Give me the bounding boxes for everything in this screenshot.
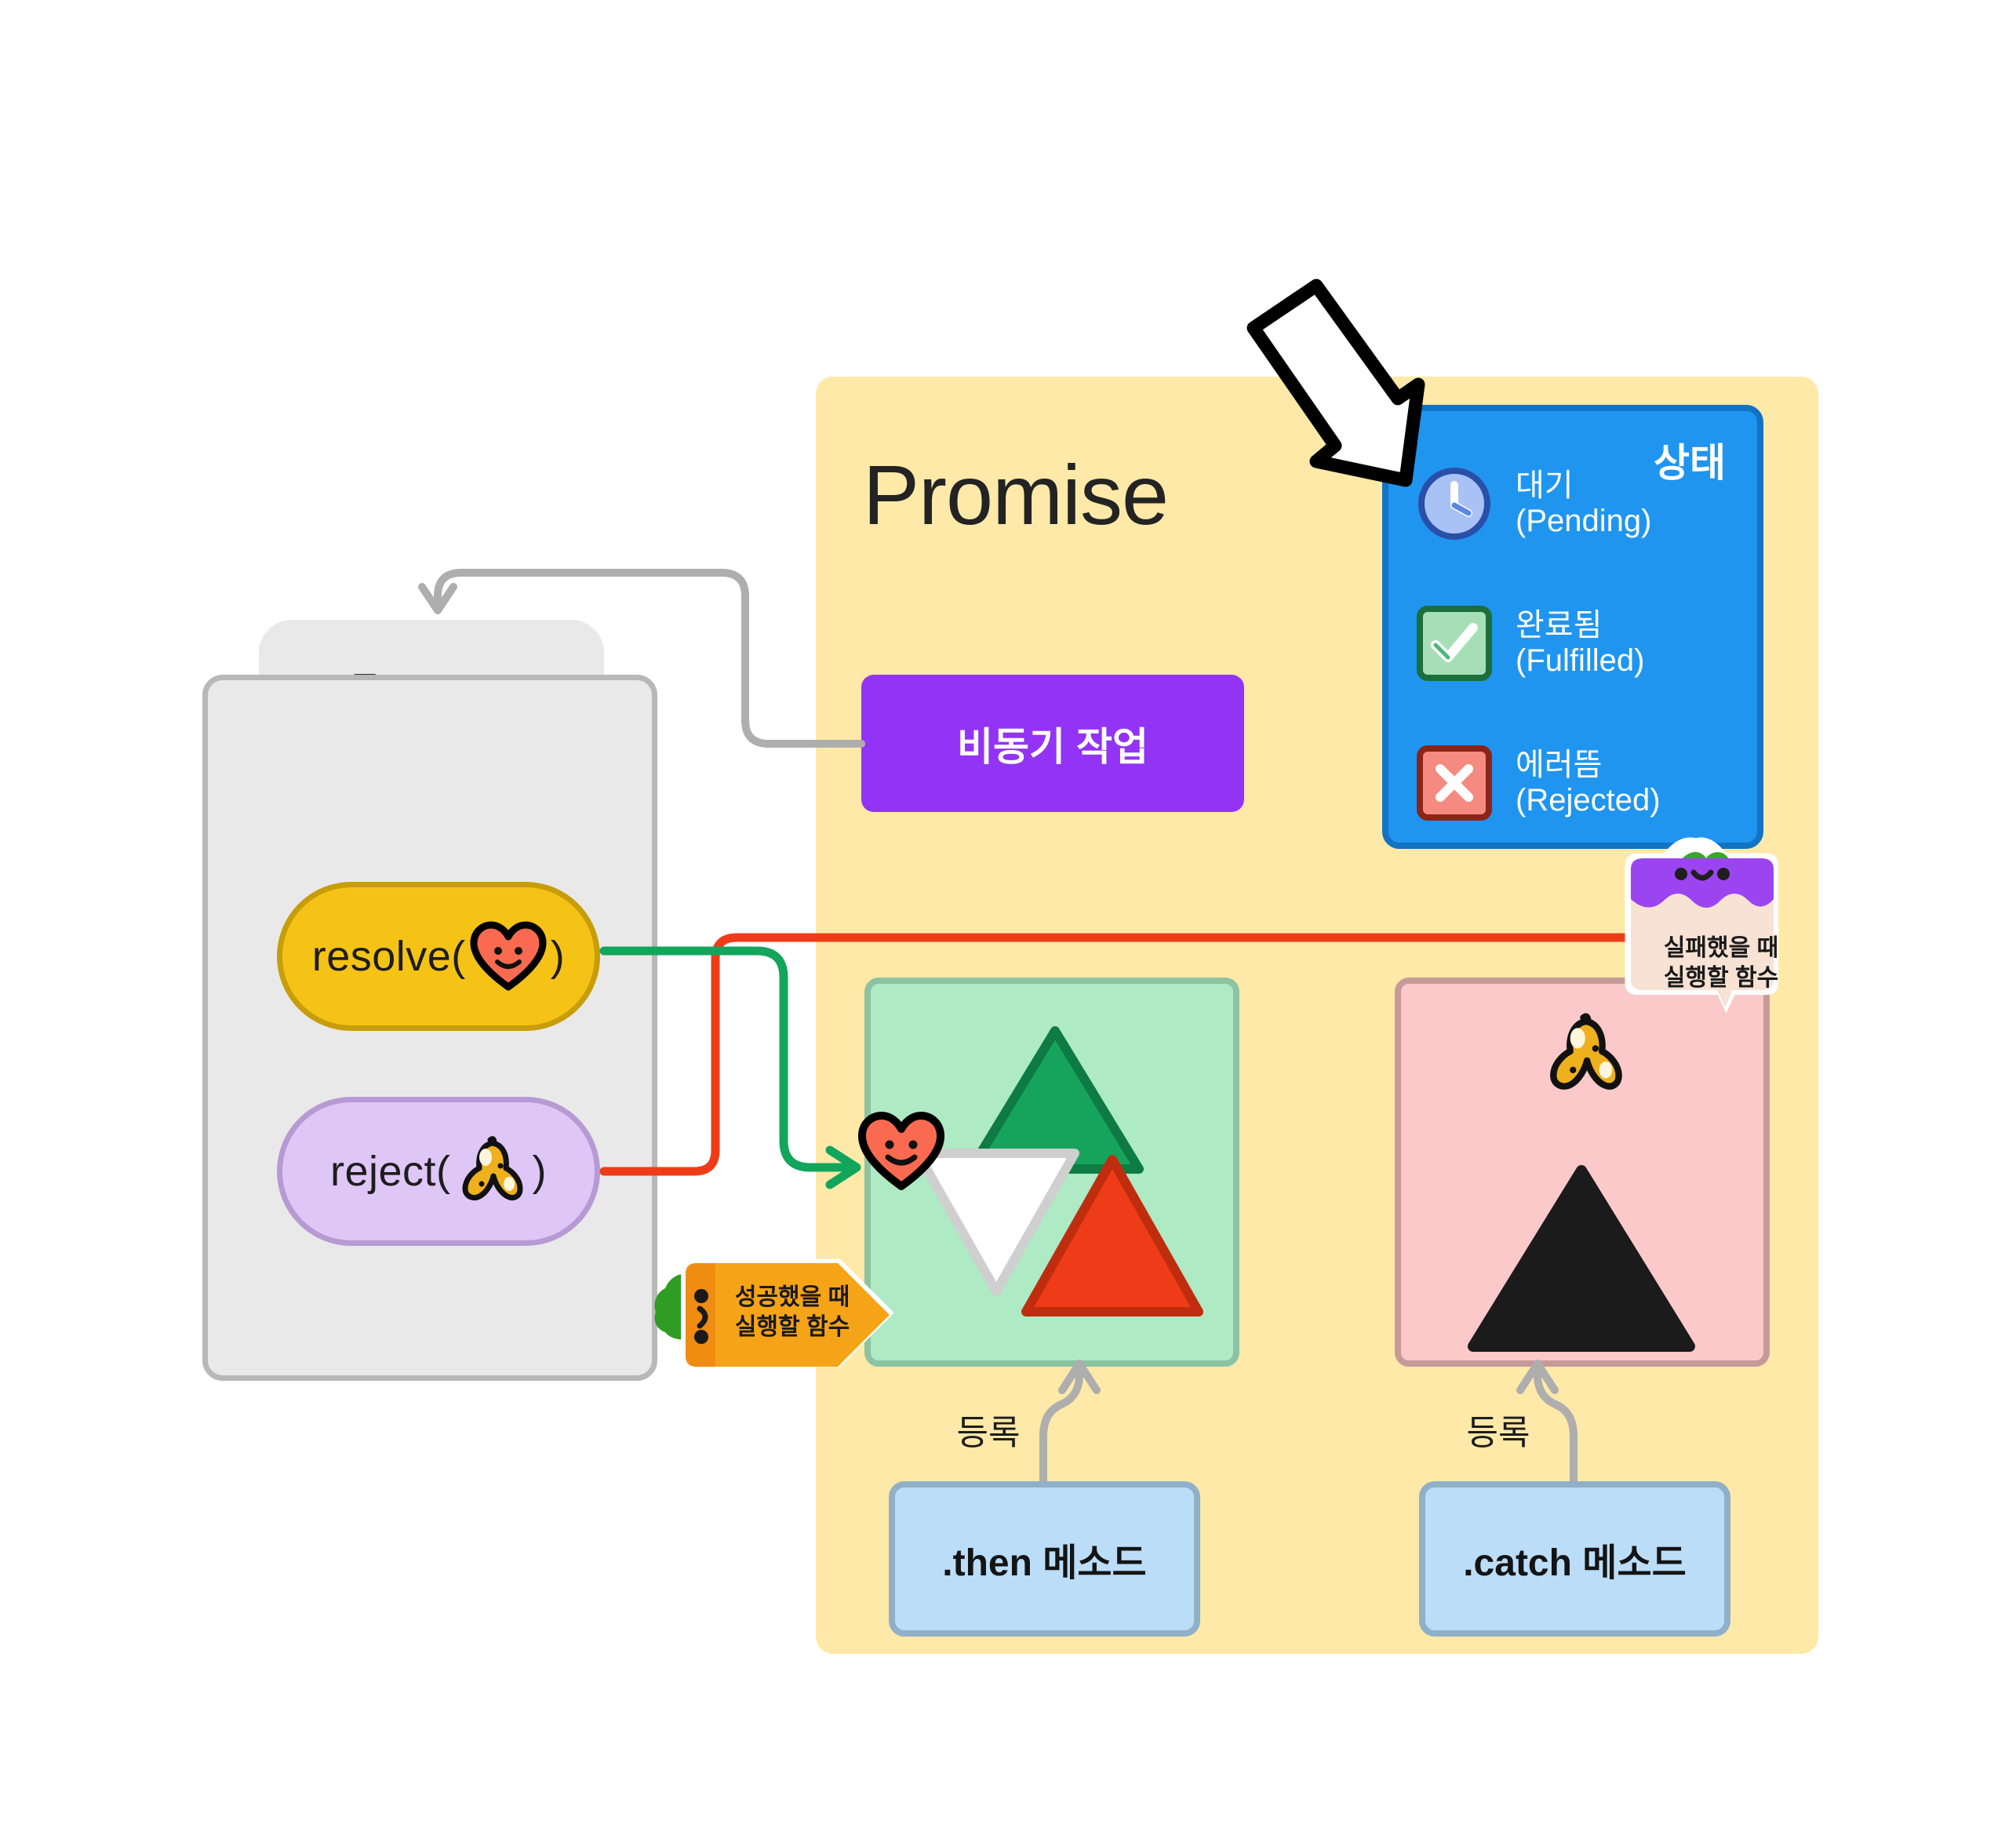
status-label-rejected: 에러뜸 (Rejected): [1516, 748, 1661, 818]
status-card-heading: 상태: [1654, 432, 1726, 488]
heart-face-sticker: [858, 1113, 944, 1191]
cross-icon: [1417, 745, 1492, 821]
status-card: 상태 대기 (Pending): [1382, 405, 1763, 849]
status-row-pending: 대기 (Pending): [1417, 466, 1651, 541]
then-method-box[interactable]: .then 메소드: [889, 1481, 1200, 1637]
catch-result-panel: [1395, 978, 1770, 1367]
check-icon: [1417, 606, 1492, 681]
register-label-catch: 등록: [1447, 1404, 1549, 1455]
register-label-then: 등록: [937, 1404, 1039, 1455]
red-triangle-up-icon: [1018, 1150, 1206, 1323]
then-method-label: .then 메소드: [942, 1531, 1146, 1586]
reject-suffix: ): [533, 1147, 547, 1196]
then-result-panel: [864, 978, 1239, 1367]
diagram-canvas: Promise Executor resolve( ) reject(: [0, 0, 2016, 1839]
banana-peel-sticker: [456, 1135, 528, 1207]
resolve-prefix: resolve(: [312, 932, 466, 981]
status-label-pending: 대기 (Pending): [1516, 468, 1651, 539]
reject-label: reject( ): [330, 1135, 547, 1207]
failure-callout: 실패했을 때 실행할 함수: [1628, 869, 1819, 1014]
catch-method-label: .catch 메소드: [1463, 1531, 1687, 1586]
status-row-rejected: 에러뜸 (Rejected): [1417, 745, 1661, 821]
catch-method-box[interactable]: .catch 메소드: [1419, 1481, 1730, 1637]
resolve-label: resolve( ): [312, 923, 566, 990]
resolve-suffix: ): [551, 932, 565, 981]
reject-prefix: reject(: [330, 1147, 451, 1196]
status-label-fulfilled: 완료됨 (Fulfilled): [1516, 608, 1644, 679]
success-callout: 성공했을 때 실행할 함수: [690, 1255, 886, 1368]
resolve-chip[interactable]: resolve( ): [277, 882, 600, 1031]
failure-callout-text: 실패했을 때 실행할 함수: [1664, 934, 1778, 993]
async-task-box[interactable]: 비동기 작업: [861, 675, 1244, 812]
black-triangle-up-icon: [1464, 1161, 1699, 1357]
reject-chip[interactable]: reject( ): [277, 1097, 600, 1246]
pointer-arrow-icon: [1200, 267, 1436, 494]
heart-face-sticker: [471, 923, 546, 990]
status-row-fulfilled: 완료됨 (Fulfilled): [1417, 606, 1644, 681]
success-callout-text: 성공했을 때 실행할 함수: [735, 1283, 850, 1342]
async-task-label: 비동기 작업: [957, 716, 1148, 772]
